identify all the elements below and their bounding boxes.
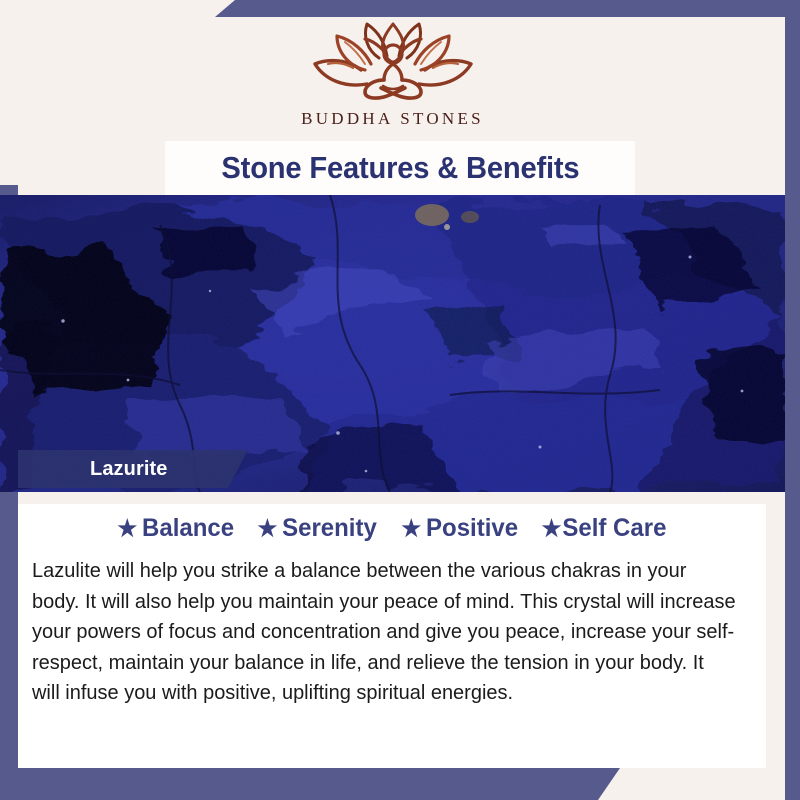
star-icon: ★ xyxy=(258,517,278,540)
benefit-label: Balance xyxy=(142,514,234,543)
benefit-label: Self Care xyxy=(563,514,667,543)
benefit-item-self-care: ★ Self Care xyxy=(542,514,667,543)
star-icon: ★ xyxy=(401,517,421,540)
benefit-item-serenity: ★ Serenity xyxy=(258,514,377,543)
stone-photo xyxy=(0,195,785,492)
star-icon: ★ xyxy=(542,517,562,540)
benefit-label: Positive xyxy=(426,514,518,543)
brand-logo-block: BUDDHA STONES xyxy=(0,0,785,145)
decor-band-bottom xyxy=(0,768,620,800)
lotus-meditating-figure-icon xyxy=(305,18,481,104)
decor-band-right xyxy=(785,0,800,800)
benefit-label: Serenity xyxy=(282,514,377,543)
description-paragraph: Lazulite will help you strike a balance … xyxy=(32,556,736,709)
brand-wordmark: BUDDHA STONES xyxy=(301,109,484,129)
benefit-item-positive: ★ Positive xyxy=(401,514,518,543)
card-top-strip xyxy=(18,492,766,504)
benefits-row: ★ Balance ★ Serenity ★ Positive ★ Self C… xyxy=(18,514,766,543)
page-title: Stone Features & Benefits xyxy=(221,150,579,186)
benefit-item-balance: ★ Balance xyxy=(117,514,234,543)
content-card: ★ Balance ★ Serenity ★ Positive ★ Self C… xyxy=(18,492,766,768)
star-icon: ★ xyxy=(117,517,137,540)
stone-name-chip: Lazurite xyxy=(18,450,248,488)
title-ribbon: Stone Features & Benefits xyxy=(165,141,635,195)
stone-name-label: Lazurite xyxy=(90,458,167,481)
infographic-page: BUDDHA STONES Stone Features & Benefits xyxy=(0,0,800,800)
